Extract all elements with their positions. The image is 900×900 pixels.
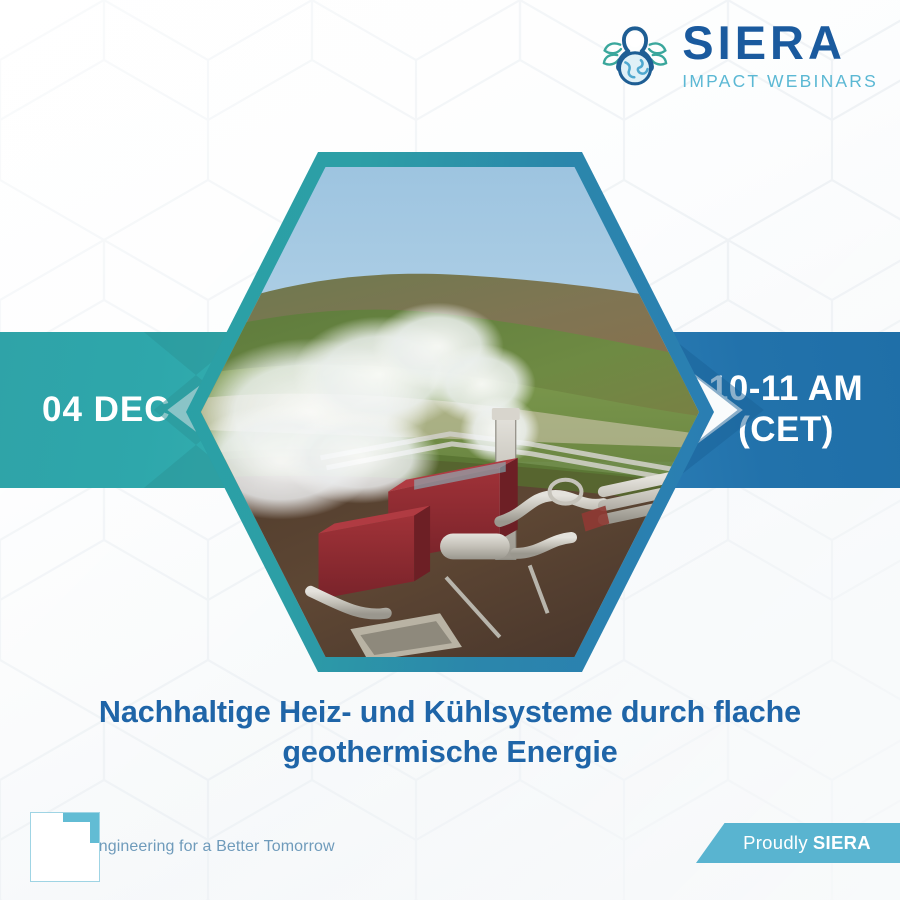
brand-tagline: IMPACT WEBINARS — [682, 73, 878, 91]
webinar-poster: SIERA IMPACT WEBINARS 04 DEC 10-11 AM (C… — [0, 0, 900, 900]
badge-brand: SIERA — [813, 832, 871, 854]
hero-photo-hexagon — [186, 152, 714, 672]
page-title: Nachhaltige Heiz- und Kühlsysteme durch … — [50, 692, 850, 773]
woman-globe-leaves-icon — [598, 18, 672, 92]
brand-logo: SIERA IMPACT WEBINARS — [598, 18, 878, 92]
brand-name: SIERA — [682, 19, 878, 66]
corporate-footer: Engineering for a Better Tomorrow — [30, 812, 335, 882]
proudly-siera-badge: Proudly SIERA — [696, 823, 900, 863]
date-label: 04 DEC — [42, 390, 171, 430]
badge-prefix: Proudly — [743, 832, 808, 854]
corporate-tagline: Engineering for a Better Tomorrow — [88, 838, 335, 856]
square-corner-mark-icon — [30, 812, 100, 882]
